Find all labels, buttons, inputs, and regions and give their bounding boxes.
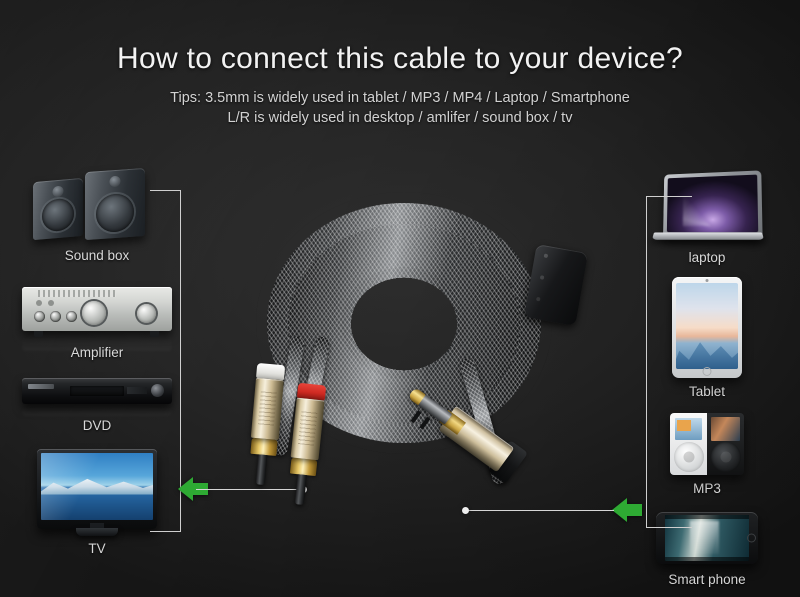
page-title: How to connect this cable to your device…: [0, 42, 800, 76]
arrow-left-icon: [612, 498, 642, 522]
device-label: Smart phone: [622, 572, 792, 587]
tip-line-2: L/R is widely used in desktop / amlifer …: [0, 108, 800, 128]
right-bracket: [646, 196, 692, 528]
left-bracket: [150, 190, 181, 532]
right-arrow-group: [612, 498, 642, 522]
jack-trs-tip: [408, 387, 453, 425]
television-icon: [37, 449, 157, 529]
speakers-icon: [27, 168, 167, 244]
device-label: TV: [12, 541, 182, 556]
header: How to connect this cable to your device…: [0, 42, 800, 128]
product-cable: [238, 186, 594, 558]
tips-block: Tips: 3.5mm is widely used in tablet / M…: [0, 88, 800, 128]
tip-line-1: Tips: 3.5mm is widely used in tablet / M…: [0, 88, 800, 108]
infographic-canvas: How to connect this cable to your device…: [0, 0, 800, 597]
cable-tie: [524, 244, 588, 326]
rca-plug-left: [247, 363, 287, 486]
